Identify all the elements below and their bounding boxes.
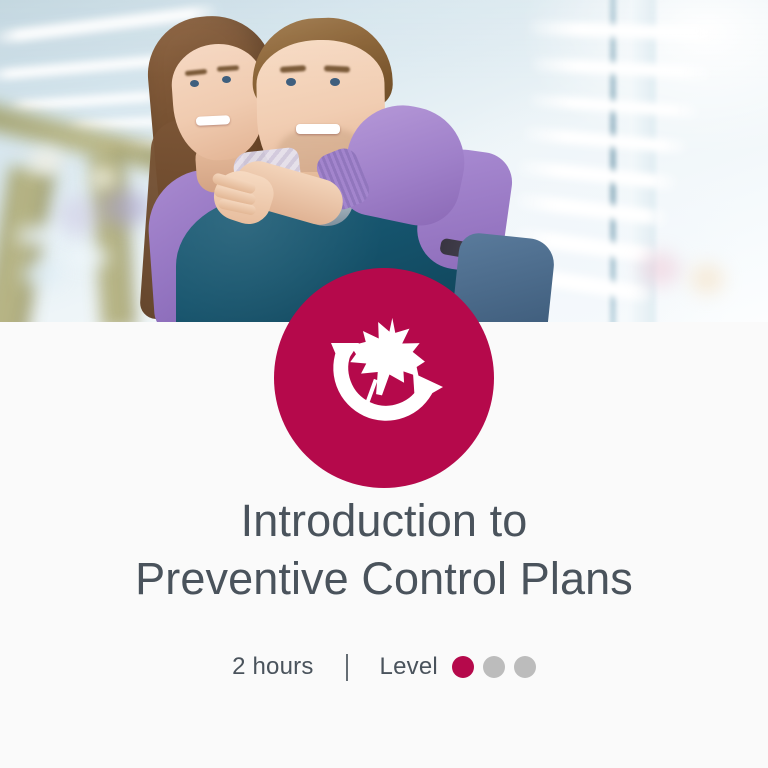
woman-smile — [196, 115, 230, 126]
brand-badge — [274, 268, 494, 488]
course-meta: 2 hours Level — [0, 653, 768, 681]
level-indicator — [452, 656, 536, 678]
duration-label: 2 hours — [232, 653, 313, 681]
card-content: Introduction to Preventive Control Plans… — [0, 492, 768, 681]
page-title: Introduction to Preventive Control Plans — [0, 492, 768, 607]
level-label: Level — [380, 653, 438, 681]
man-eye — [286, 78, 296, 86]
course-card: Introduction to Preventive Control Plans… — [0, 0, 768, 768]
level-dot-3 — [514, 656, 536, 678]
level-dot-1 — [452, 656, 474, 678]
woman-eye — [222, 76, 231, 83]
woman-eye — [190, 80, 199, 87]
title-line-1: Introduction to — [0, 492, 768, 550]
level-dot-2 — [483, 656, 505, 678]
man-smile — [296, 124, 340, 134]
meta-separator — [346, 654, 348, 681]
title-line-2: Preventive Control Plans — [0, 550, 768, 608]
man-eye — [330, 78, 340, 86]
maple-leaf-circular-arrow-icon — [309, 303, 459, 453]
man-eyebrow — [324, 65, 350, 72]
